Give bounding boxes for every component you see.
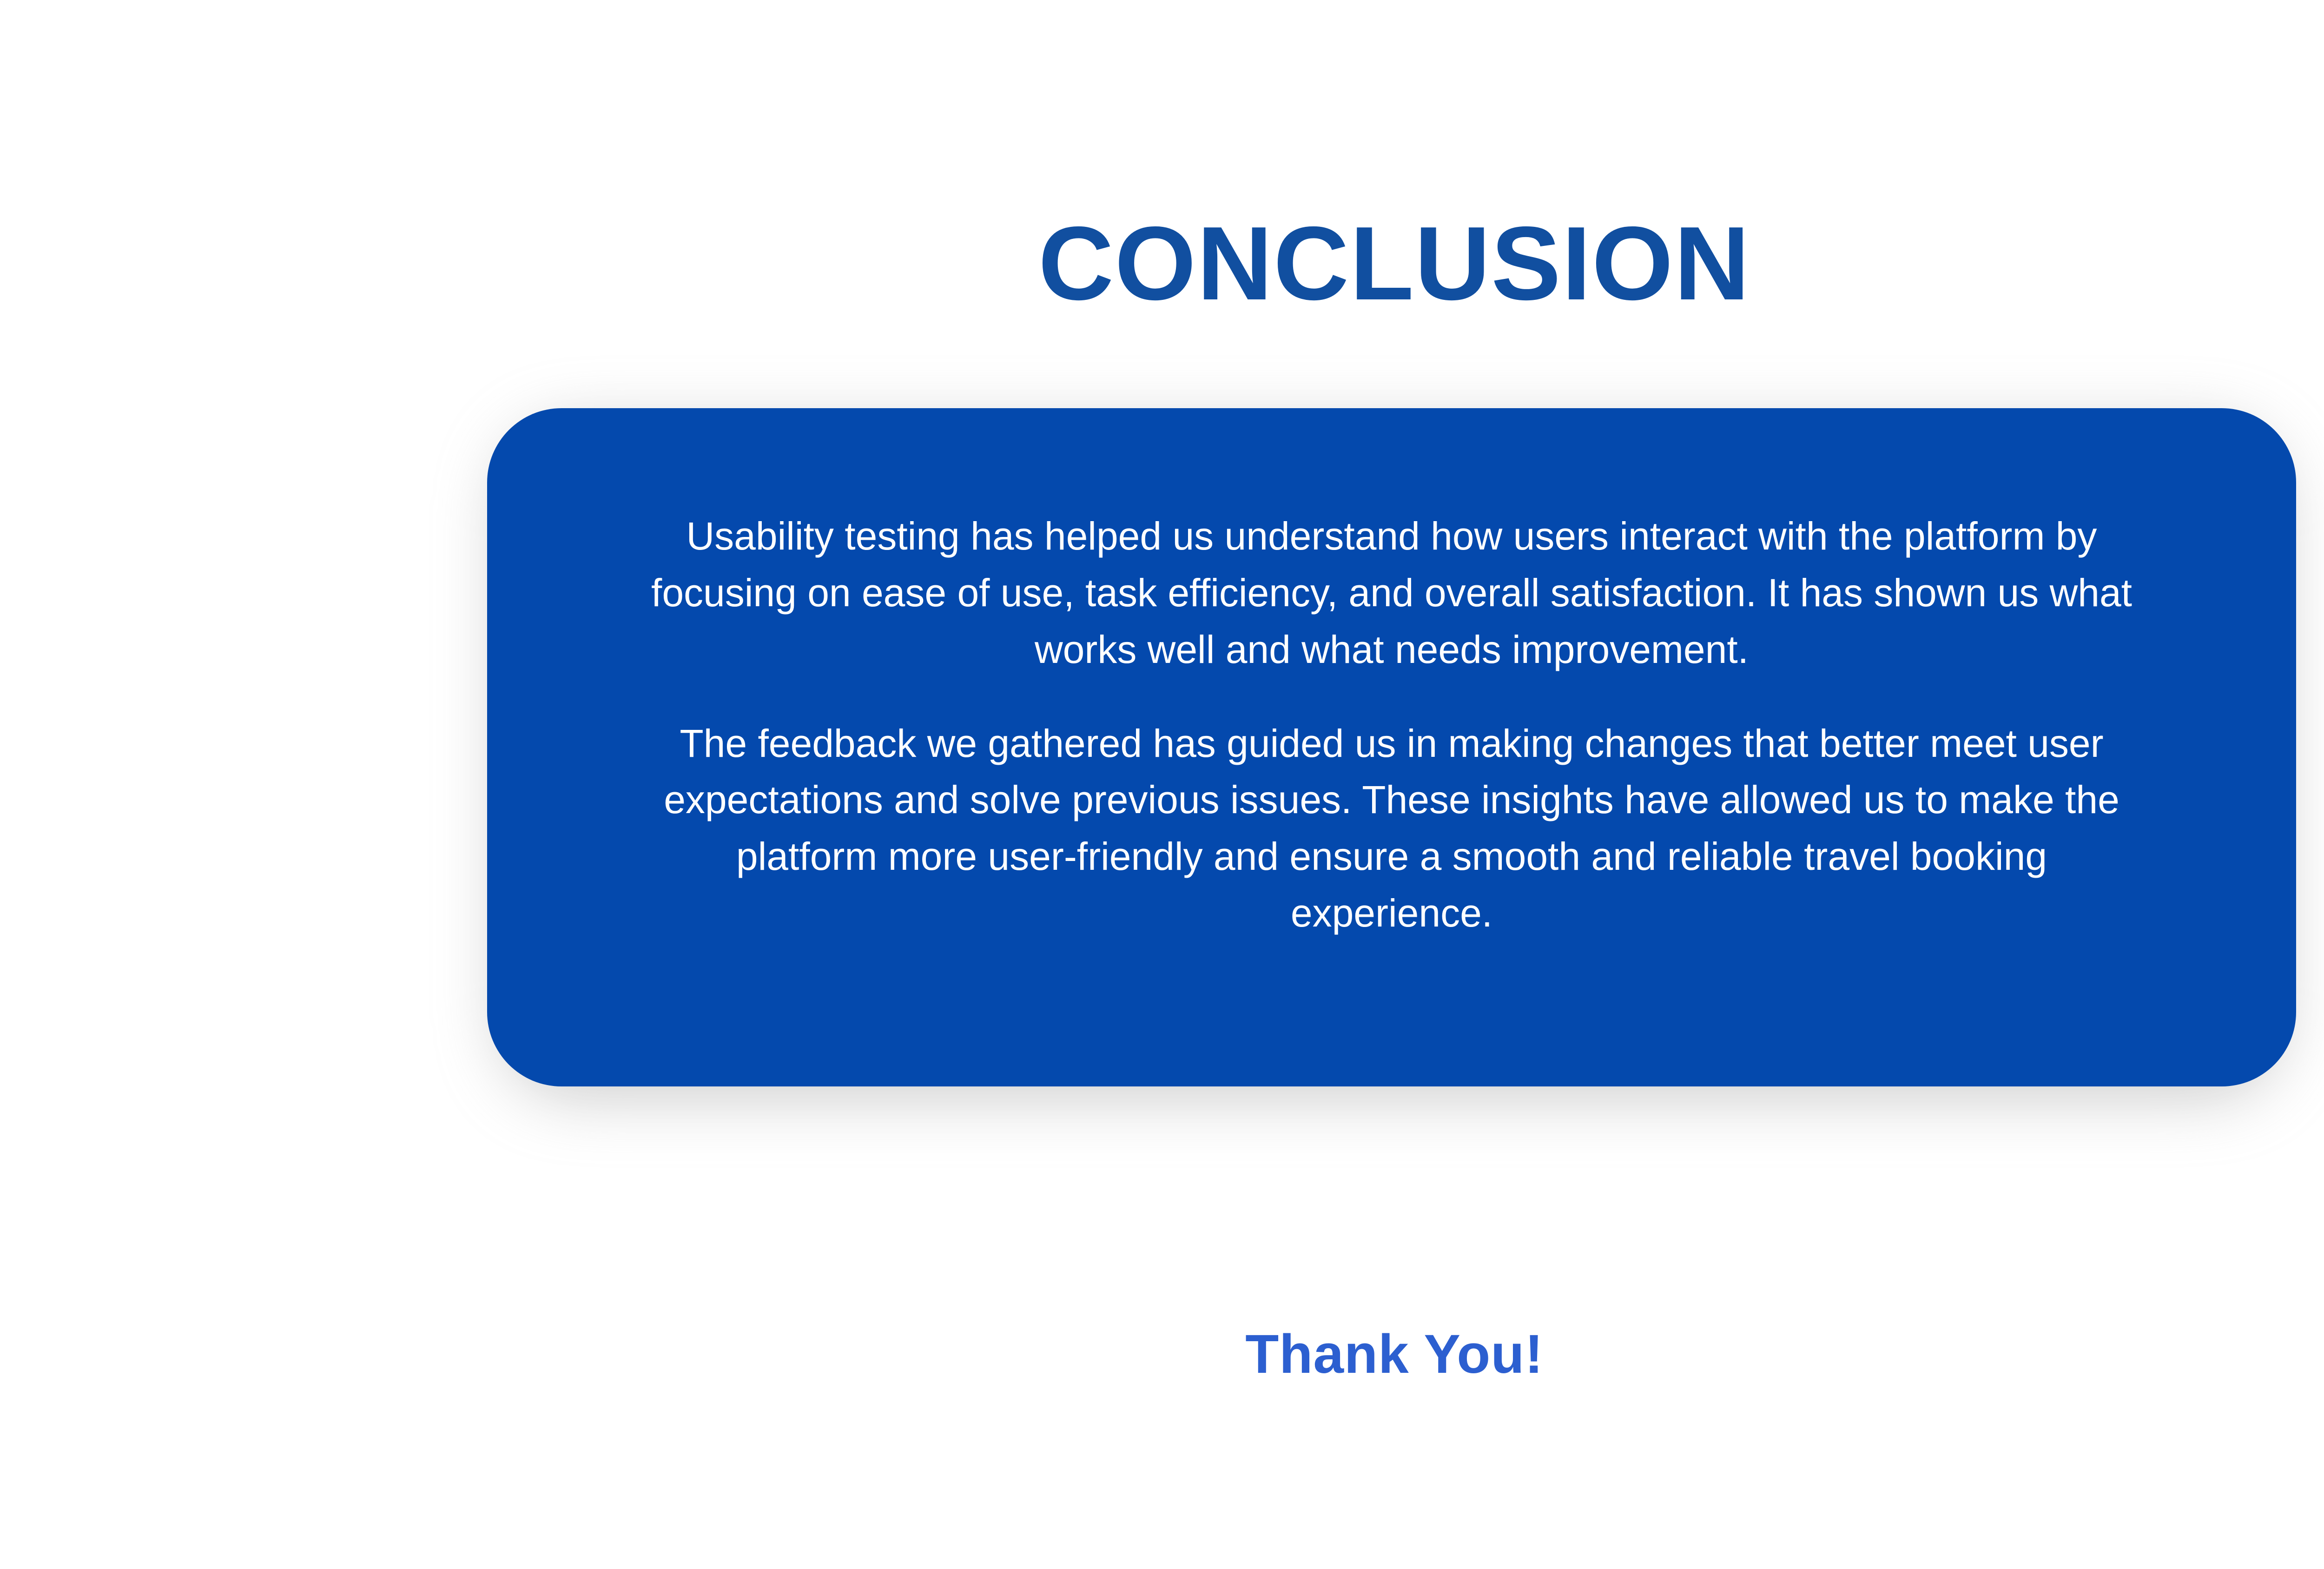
conclusion-card-wrapper: Usability testing has helped us understa… [487,408,2296,1086]
conclusion-paragraph-1: Usability testing has helped us understa… [632,508,2152,678]
page-title: CONCLUSION [0,208,2324,318]
thank-you-text: Thank You! [0,1323,2324,1386]
conclusion-card-body: Usability testing has helped us understa… [632,508,2152,942]
slide-root: CONCLUSION Usability testing has helped … [0,0,2324,1569]
paragraph-spacer [632,678,2152,715]
conclusion-paragraph-2: The feedback we gathered has guided us i… [632,715,2152,942]
conclusion-card: Usability testing has helped us understa… [487,408,2296,1086]
